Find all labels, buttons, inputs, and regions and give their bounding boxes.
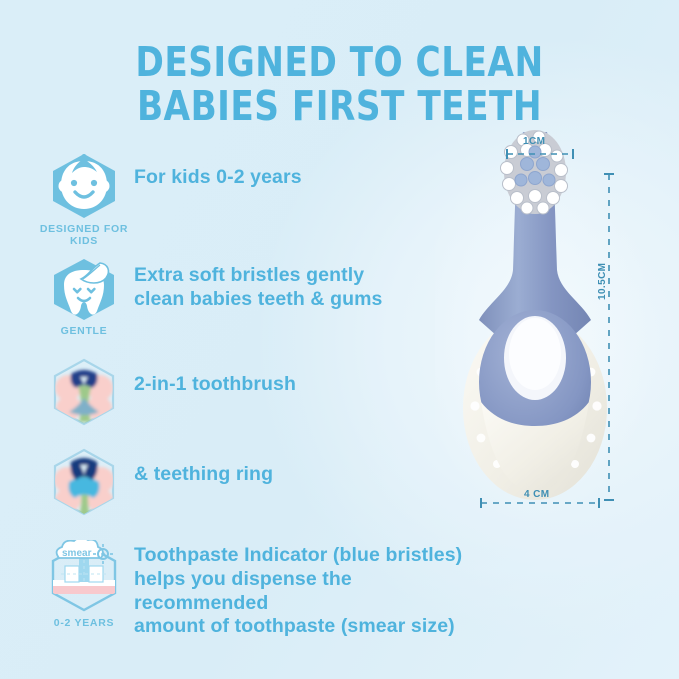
gentle-caption: GENTLE: [61, 325, 108, 337]
feature-row-teething-ring: & teething ring: [34, 446, 464, 534]
dimension-line-width-head: [505, 148, 575, 160]
product-image: [435, 120, 675, 540]
feature-text-0: For kids 0-2 years: [134, 152, 302, 190]
feature-text-1: Extra soft bristles gently clean babies …: [134, 258, 383, 312]
feature-text-2: 2-in-1 toothbrush: [134, 356, 296, 397]
dimension-line-height: [603, 172, 615, 502]
feature-row-gentle: GENTLE Extra soft bristles gently clean …: [34, 258, 464, 350]
feature-icon-cell: [34, 446, 134, 518]
feature-row-designed-for-kids: DESIGNED FOR KIDS For kids 0-2 years: [34, 152, 464, 252]
title-line-1: DESIGNED TO CLEAN: [24, 40, 655, 84]
smear-bubble-text: smear: [62, 548, 92, 559]
designed-for-kids-icon: [48, 152, 120, 220]
two-in-one-toothbrush-icon: [47, 356, 121, 428]
gentle-tooth-icon: [48, 258, 120, 322]
dimension-label-width-head: 1CM: [523, 136, 545, 147]
feature-icon-cell: DESIGNED FOR KIDS: [34, 152, 134, 247]
feature-icon-cell: [34, 356, 134, 428]
feature-list: DESIGNED FOR KIDS For kids 0-2 years: [34, 152, 464, 651]
page-title: DESIGNED TO CLEAN BABIES FIRST TEETH: [24, 40, 655, 129]
feature-text-3: & teething ring: [134, 446, 273, 487]
teething-ring-icon: [47, 446, 121, 518]
dimension-label-height: 10.5CM: [597, 263, 608, 300]
toothbrush-teether-illustration: [435, 120, 675, 540]
feature-text-4: Toothpaste Indicator (blue bristles) hel…: [134, 540, 464, 639]
dimension-label-width-base: 4 CM: [524, 489, 550, 500]
feature-row-toothpaste-indicator: smear 0-2 YEARS Toothpaste Indicator (bl…: [34, 540, 464, 645]
feature-icon-cell: smear 0-2 YEARS: [34, 540, 134, 629]
feature-row-two-in-one: 2-in-1 toothbrush: [34, 356, 464, 440]
feature-icon-cell: GENTLE: [34, 258, 134, 337]
designed-for-kids-caption: DESIGNED FOR KIDS: [34, 223, 134, 247]
smear-caption: 0-2 YEARS: [54, 617, 114, 629]
product-infographic: DESIGNED TO CLEAN BABIES FIRST TEETH: [0, 0, 679, 679]
smear-toothpaste-icon: smear: [41, 540, 127, 614]
